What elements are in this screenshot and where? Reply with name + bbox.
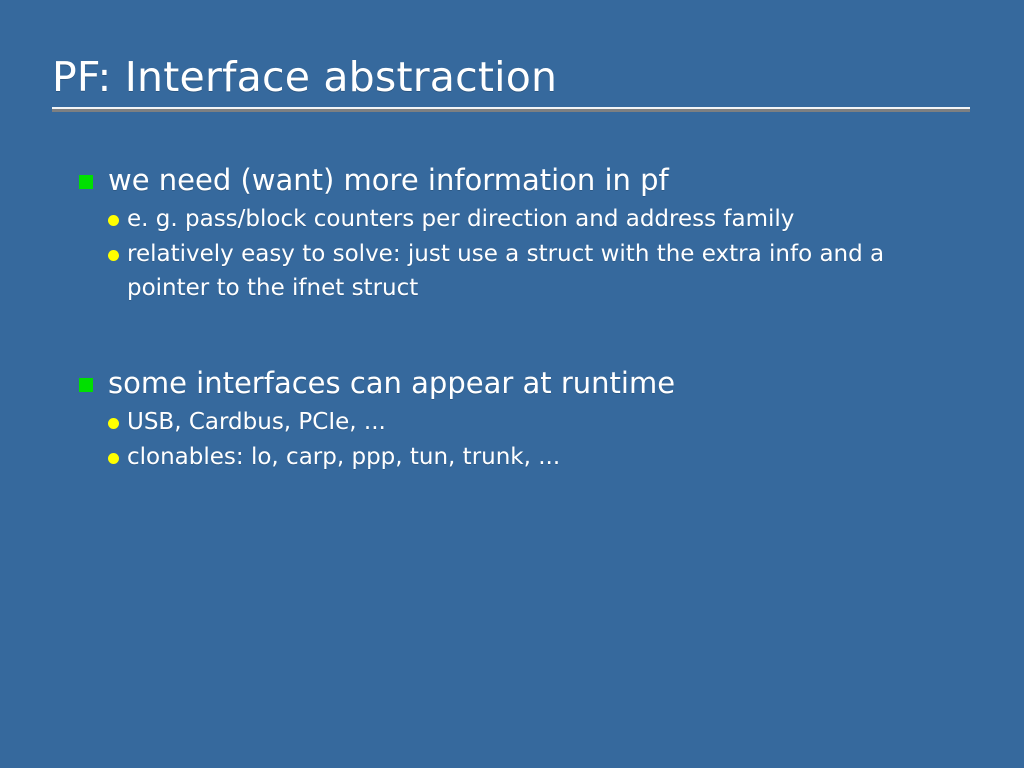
- presentation-slide: PF: Interface abstraction we need (want)…: [0, 0, 1024, 768]
- title-block: PF: Interface abstraction: [52, 52, 972, 102]
- dot-bullet-icon: [108, 453, 119, 464]
- title-rule-body: [52, 109, 970, 112]
- dot-bullet-icon: [108, 418, 119, 429]
- dot-bullet-icon: [108, 215, 119, 226]
- bullet-level1: we need (want) more information in pf: [0, 160, 1024, 200]
- dot-bullet-icon: [108, 250, 119, 261]
- slide-body: we need (want) more information in pf e.…: [0, 160, 1024, 474]
- bullet-level2-label: clonables: lo, carp, ppp, tun, trunk, ..…: [127, 440, 927, 474]
- square-bullet-icon: [79, 378, 93, 392]
- bullet-level2: e. g. pass/block counters per direction …: [0, 202, 1024, 236]
- bullet-group-2: some interfaces can appear at runtime US…: [0, 363, 1024, 474]
- square-bullet-icon: [79, 175, 93, 189]
- bullet-level2: relatively easy to solve: just use a str…: [0, 237, 1024, 305]
- bullet-level2-label: relatively easy to solve: just use a str…: [127, 237, 927, 305]
- bullet-level2-label: USB, Cardbus, PCIe, ...: [127, 405, 927, 439]
- bullet-level1: some interfaces can appear at runtime: [0, 363, 1024, 403]
- bullet-group-1: we need (want) more information in pf e.…: [0, 160, 1024, 305]
- bullet-level2: clonables: lo, carp, ppp, tun, trunk, ..…: [0, 440, 1024, 474]
- bullet-level1-label: we need (want) more information in pf: [108, 163, 669, 197]
- page-title: PF: Interface abstraction: [52, 52, 972, 102]
- bullet-level2-label: e. g. pass/block counters per direction …: [127, 202, 927, 236]
- bullet-level1-label: some interfaces can appear at runtime: [108, 366, 675, 400]
- bullet-level2: USB, Cardbus, PCIe, ...: [0, 405, 1024, 439]
- title-underline-rule: [52, 107, 970, 112]
